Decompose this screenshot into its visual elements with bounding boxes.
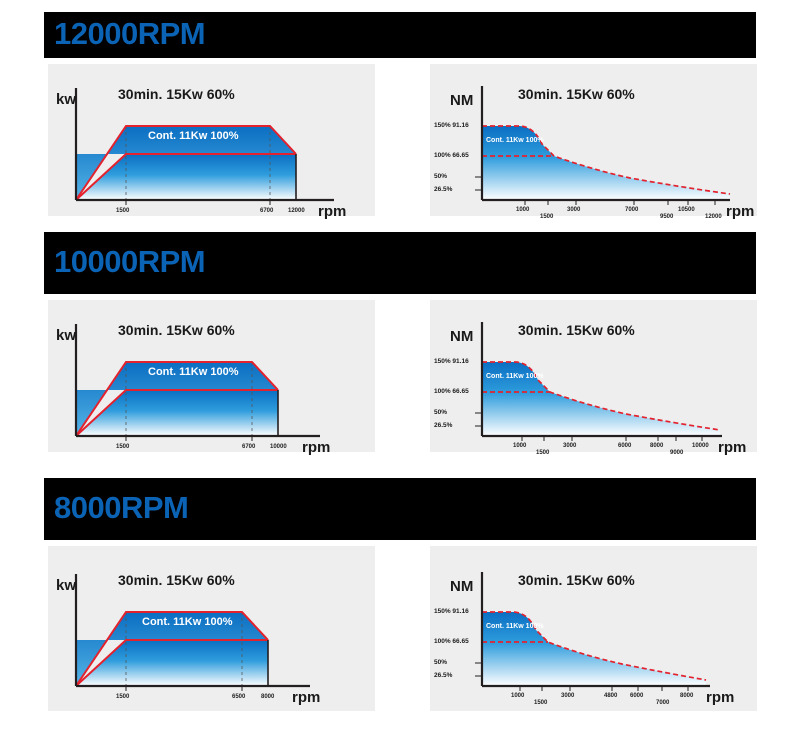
torque-chart-heading: 30min. 15Kw 60% xyxy=(518,572,635,588)
power-band-label: Cont. 11Kw 100% xyxy=(148,130,238,142)
torque-plot-svg xyxy=(430,546,757,711)
power-plot-8000 xyxy=(48,546,375,711)
torque-ytick-0: 150% 91.16 xyxy=(434,358,469,365)
power-xtick-1: 6700 xyxy=(260,208,273,214)
torque-xtick-upper-2: 7000 xyxy=(625,207,638,213)
torque-xtick-lower-0: 1500 xyxy=(536,450,549,456)
torque-chart-panel-10000: NM 30min. 15Kw 60% 150% 91.16 100% 66.65… xyxy=(430,300,757,452)
torque-xtick-upper-2: 6000 xyxy=(618,443,631,449)
section-12000rpm: 12000RPM xyxy=(44,12,756,230)
power-chart-heading: 30min. 15Kw 60% xyxy=(118,322,235,338)
torque-xtick-upper-1: 3000 xyxy=(561,693,574,699)
power-xtick-2: 8000 xyxy=(261,694,274,700)
spec-sheet: 12000RPM xyxy=(0,0,800,750)
power-xtick-0: 1500 xyxy=(116,694,129,700)
section-title: 8000RPM xyxy=(54,492,188,523)
torque-xtick-lower-2: 12000 xyxy=(705,214,722,220)
torque-x-axis-label: rpm xyxy=(706,689,734,706)
torque-xtick-upper-3: 10500 xyxy=(678,207,695,213)
power-chart-panel-12000: kw 30min. 15Kw 60% Cont. 11Kw 100% 1500 … xyxy=(48,64,375,216)
power-x-axis-label: rpm xyxy=(302,439,330,456)
torque-chart-panel-12000: NM 30min. 15Kw 60% 150% 91.16 100% 66.65… xyxy=(430,64,757,216)
section-title: 12000RPM xyxy=(54,18,205,49)
power-xtick-1: 6700 xyxy=(242,444,255,450)
torque-y-axis-label: NM xyxy=(450,92,473,109)
power-y-axis-label: kw xyxy=(56,577,76,594)
power-xtick-1: 6500 xyxy=(232,694,245,700)
torque-xtick-upper-3: 6000 xyxy=(630,693,643,699)
torque-ytick-0: 150% 91.16 xyxy=(434,608,469,615)
torque-x-axis-label: rpm xyxy=(718,439,746,456)
torque-xtick-upper-1: 3000 xyxy=(563,443,576,449)
torque-chart-heading: 30min. 15Kw 60% xyxy=(518,322,635,338)
torque-xtick-lower-1: 7000 xyxy=(656,700,669,706)
torque-ytick-2: 50% xyxy=(434,173,447,180)
torque-xtick-lower-1: 9500 xyxy=(660,214,673,220)
torque-xtick-lower-0: 1500 xyxy=(540,214,553,220)
power-plot-svg xyxy=(48,546,375,711)
torque-xtick-lower-1: 9000 xyxy=(670,450,683,456)
torque-xtick-upper-3: 8000 xyxy=(650,443,663,449)
torque-ytick-3: 26.5% xyxy=(434,186,452,193)
section-10000rpm: 10000RPM kw 30min. 15Kw 60% xyxy=(44,232,756,450)
power-chart-heading: 30min. 15Kw 60% xyxy=(118,86,235,102)
power-xtick-2: 12000 xyxy=(288,208,305,214)
torque-ytick-1: 100% 66.65 xyxy=(434,152,469,159)
power-chart-panel-10000: kw 30min. 15Kw 60% Cont. 11Kw 100% 1500 … xyxy=(48,300,375,452)
torque-chart-panel-8000: NM 30min. 15Kw 60% 150% 91.16 100% 66.65… xyxy=(430,546,757,711)
power-x-axis-label: rpm xyxy=(292,689,320,706)
power-chart-heading: 30min. 15Kw 60% xyxy=(118,572,235,588)
torque-xtick-upper-0: 1000 xyxy=(516,207,529,213)
torque-xtick-lower-0: 1500 xyxy=(534,700,547,706)
torque-ytick-3: 26.5% xyxy=(434,422,452,429)
torque-chart-heading: 30min. 15Kw 60% xyxy=(518,86,635,102)
power-xtick-0: 1500 xyxy=(116,444,129,450)
power-band-label: Cont. 11Kw 100% xyxy=(148,366,238,378)
section-title: 10000RPM xyxy=(54,246,205,277)
power-xtick-0: 1500 xyxy=(116,208,129,214)
power-y-axis-label: kw xyxy=(56,327,76,344)
torque-xtick-upper-0: 1000 xyxy=(511,693,524,699)
torque-xtick-upper-2: 4800 xyxy=(604,693,617,699)
torque-y-axis-label: NM xyxy=(450,578,473,595)
torque-ytick-0: 150% 91.16 xyxy=(434,122,469,129)
power-chart-panel-8000: kw 30min. 15Kw 60% Cont. 11Kw 100% 1500 … xyxy=(48,546,375,711)
torque-xtick-upper-0: 1000 xyxy=(513,443,526,449)
torque-xtick-upper-4: 8000 xyxy=(680,693,693,699)
torque-ytick-2: 50% xyxy=(434,409,447,416)
power-y-axis-label: kw xyxy=(56,91,76,108)
torque-band-label: Cont. 11Kw 100% xyxy=(486,373,544,380)
torque-xtick-upper-4: 10000 xyxy=(692,443,709,449)
torque-ytick-1: 100% 66.65 xyxy=(434,638,469,645)
torque-x-axis-label: rpm xyxy=(726,203,754,220)
torque-plot-8000 xyxy=(430,546,757,711)
torque-xtick-upper-1: 3000 xyxy=(567,207,580,213)
torque-ytick-3: 26.5% xyxy=(434,672,452,679)
torque-ytick-1: 100% 66.65 xyxy=(434,388,469,395)
power-xtick-2: 10000 xyxy=(270,444,287,450)
power-band-label: Cont. 11Kw 100% xyxy=(142,616,232,628)
torque-band-label: Cont. 11Kw 100% xyxy=(486,623,544,630)
torque-ytick-2: 50% xyxy=(434,659,447,666)
torque-band-label: Cont. 11Kw 100% xyxy=(486,137,544,144)
torque-y-axis-label: NM xyxy=(450,328,473,345)
section-8000rpm: 8000RPM kw 30min. 15Kw 60% xyxy=(44,478,756,728)
power-x-axis-label: rpm xyxy=(318,203,346,220)
